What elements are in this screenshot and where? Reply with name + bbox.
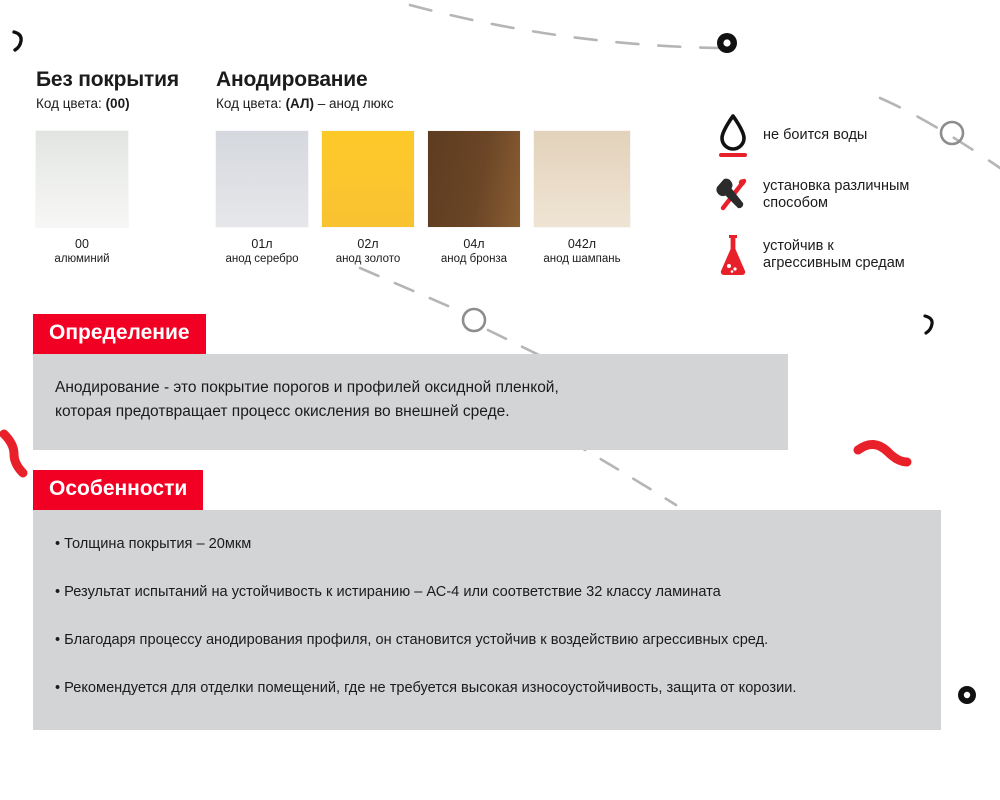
comma-mark-top-left bbox=[14, 32, 21, 50]
color-swatch-silver[interactable] bbox=[216, 131, 308, 227]
donut-bottom-right bbox=[958, 686, 976, 704]
features-block: Особенности • Толщина покрытия – 20мкм •… bbox=[33, 470, 941, 730]
features-tab-label: Особенности bbox=[33, 470, 203, 510]
flask-icon bbox=[713, 232, 753, 278]
section-uncoated: Без покрытия Код цвета: (00) 00 алюминий bbox=[36, 68, 179, 265]
feature-bullet: • Толщина покрытия – 20мкм bbox=[55, 534, 917, 556]
color-swatch-bronze[interactable] bbox=[428, 131, 520, 227]
swatch-code: 00 bbox=[36, 237, 128, 251]
legend-item-water: не боится воды bbox=[713, 112, 909, 158]
water-drop-icon bbox=[713, 112, 753, 158]
definition-panel: Анодирование - это покрытие порогов и пр… bbox=[33, 354, 788, 450]
swatch-gold[interactable]: 02л анод золото bbox=[322, 131, 414, 265]
swatch-code: 02л bbox=[322, 237, 414, 251]
swatch-code: 042л bbox=[534, 237, 630, 251]
dashed-curve-top bbox=[410, 5, 718, 48]
section-code-anodized: Код цвета: (АЛ) – анод люкс bbox=[216, 96, 630, 111]
swatch-name: анод шампань bbox=[534, 253, 630, 265]
ring-circle-top-right bbox=[941, 122, 963, 144]
comma-mark-right bbox=[925, 316, 932, 333]
dashed-curve-middle bbox=[360, 268, 462, 312]
legend-label: установка различным способом bbox=[763, 178, 909, 211]
legend-label: не боится воды bbox=[763, 127, 867, 144]
swatch-name: алюминий bbox=[36, 253, 128, 265]
swatch-row-anodized: 01л анод серебро 02л анод золото 04л ано… bbox=[216, 131, 630, 265]
code-value: (АЛ) bbox=[286, 96, 314, 111]
swatch-row-uncoated: 00 алюминий bbox=[36, 131, 179, 265]
code-label: Код цвета: bbox=[36, 96, 106, 111]
donut-top bbox=[717, 33, 737, 53]
swatch-code: 04л bbox=[428, 237, 520, 251]
definition-line-2: которая предотвращает процесс окисления … bbox=[55, 400, 762, 424]
features-panel: • Толщина покрытия – 20мкм • Результат и… bbox=[33, 510, 941, 730]
swatch-silver[interactable]: 01л анод серебро bbox=[216, 131, 308, 265]
swatch-champagne[interactable]: 042л анод шампань bbox=[534, 131, 630, 265]
color-swatch-aluminium[interactable] bbox=[36, 131, 128, 227]
code-suffix: – анод люкс bbox=[314, 96, 394, 111]
swatch-name: анод серебро bbox=[216, 253, 308, 265]
definition-tab-label: Определение bbox=[33, 314, 206, 354]
section-anodized: Анодирование Код цвета: (АЛ) – анод люкс… bbox=[216, 68, 630, 265]
squiggle-right bbox=[858, 444, 907, 462]
code-label: Код цвета: bbox=[216, 96, 286, 111]
definition-line-1: Анодирование - это покрытие порогов и пр… bbox=[55, 376, 762, 400]
feature-bullet: • Результат испытаний на устойчивость к … bbox=[55, 582, 917, 604]
swatch-aluminium[interactable]: 00 алюминий bbox=[36, 131, 128, 265]
features-legend: не боится воды установка различным спосо… bbox=[713, 112, 909, 292]
swatch-name: анод золото bbox=[322, 253, 414, 265]
swatch-bronze[interactable]: 04л анод бронза bbox=[428, 131, 520, 265]
tools-cross-icon bbox=[713, 172, 753, 218]
section-title-anodized: Анодирование bbox=[216, 68, 630, 92]
color-swatch-gold[interactable] bbox=[322, 131, 414, 227]
feature-bullet: • Благодаря процессу анодирования профил… bbox=[55, 630, 917, 652]
legend-item-chemical: устойчив к агрессивным средам bbox=[713, 232, 909, 278]
section-code-uncoated: Код цвета: (00) bbox=[36, 96, 179, 111]
squiggle-left bbox=[4, 434, 23, 473]
section-title-uncoated: Без покрытия bbox=[36, 68, 179, 92]
legend-label: устойчив к агрессивным средам bbox=[763, 238, 905, 271]
feature-bullet: • Рекомендуется для отделки помещений, г… bbox=[55, 678, 917, 700]
color-swatch-champagne[interactable] bbox=[534, 131, 630, 227]
legend-item-install: установка различным способом bbox=[713, 172, 909, 218]
swatch-code: 01л bbox=[216, 237, 308, 251]
definition-block: Определение Анодирование - это покрытие … bbox=[33, 314, 788, 450]
swatch-name: анод бронза bbox=[428, 253, 520, 265]
code-value: (00) bbox=[106, 96, 130, 111]
